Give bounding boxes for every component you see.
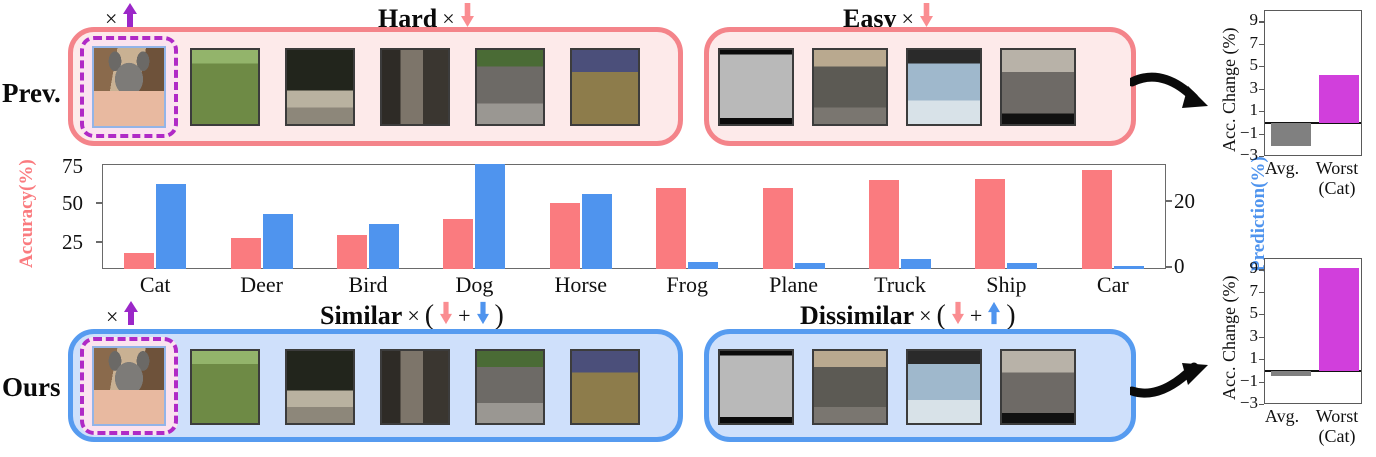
inset-ytick-mark [1259, 269, 1264, 270]
xtick-deer: Deer [207, 272, 317, 298]
row-label-prev: Prev. [2, 78, 61, 109]
close-paren: ) [1006, 300, 1015, 332]
bar-accuracy-truck [869, 180, 899, 269]
figure-root: Hard × Easy × × Prev. [0, 0, 1376, 457]
arrow-ours-to-inset-icon [1130, 355, 1220, 401]
bar-prediction-truck [901, 259, 931, 269]
thumb-dog[interactable] [380, 349, 450, 425]
ytick-left-25: 25 [62, 230, 83, 255]
multiply-symbol: × [919, 303, 931, 329]
xtick-plane: Plane [739, 272, 849, 298]
inset-ours-xlabel-worst-sub: (Cat) [1306, 426, 1368, 447]
inset-ytick-mark [1259, 66, 1264, 67]
bar-accuracy-horse [550, 203, 580, 269]
down-arrow-red-icon [439, 301, 453, 332]
inset-ours-ylabel: Acc. Change (%) [1219, 276, 1240, 400]
down-arrow-blue-icon [476, 301, 490, 332]
thumb-deer[interactable] [190, 48, 260, 126]
multiply-symbol: × [106, 304, 118, 330]
caption-similar-label: Similar [320, 301, 402, 331]
inset-ytick-mark [1259, 89, 1264, 90]
bar-prediction-frog [688, 262, 718, 269]
inset-prev-ylabel: Acc. Change (%) [1219, 28, 1240, 152]
bar-accuracy-bird [337, 235, 367, 269]
inset-ytick-mark [1259, 134, 1264, 135]
ytick-mark-right [1166, 200, 1172, 202]
bar-accuracy-cat [124, 253, 154, 269]
plus-symbol: + [458, 303, 470, 329]
thumb-cat[interactable] [92, 346, 166, 426]
thumb-truck[interactable] [812, 349, 888, 425]
bar-prediction-plane [795, 263, 825, 269]
thumb-frog[interactable] [570, 48, 640, 126]
xtick-bird: Bird [313, 272, 423, 298]
thumb-car[interactable] [1000, 48, 1076, 126]
bar-accuracy-ship [975, 179, 1005, 269]
caption-similar: Similar × ( + ) [320, 300, 504, 332]
inset-ytick-mark [1259, 292, 1264, 293]
close-paren: ) [495, 300, 504, 332]
thumb-bird[interactable] [285, 48, 355, 126]
bar-prediction-deer [263, 214, 293, 269]
xtick-cat: Cat [100, 272, 210, 298]
xtick-car: Car [1058, 272, 1168, 298]
inset-ours-xlabel-avg: Avg. [1258, 406, 1306, 427]
up-arrow-blue-icon [987, 301, 1001, 332]
bar-accuracy-deer [231, 238, 261, 269]
ytick-right-20: 20 [1174, 189, 1195, 214]
ytick-left-75: 75 [62, 154, 83, 179]
open-paren: ( [937, 300, 946, 332]
ytick-mark-right [1166, 266, 1172, 268]
arrow-prev-to-inset-icon [1130, 72, 1220, 118]
inset-ytick-mark [1259, 382, 1264, 383]
inset-ours-xlabel-worst: Worst [1306, 406, 1368, 427]
inset-ytick-mark [1259, 21, 1264, 22]
caption-dissimilar-label: Dissimilar [800, 301, 914, 331]
bar-prediction-cat [156, 184, 186, 269]
caption-dissimilar: Dissimilar × ( + ) [800, 300, 1016, 332]
inset-prev-plot-area [1264, 10, 1362, 156]
bar-accuracy-frog [656, 188, 686, 269]
thumb-cat[interactable] [92, 46, 166, 128]
inset-ytick-mark [1259, 44, 1264, 45]
xtick-ship: Ship [951, 272, 1061, 298]
thumb-frog[interactable] [570, 349, 640, 425]
bar-accuracy-car [1082, 170, 1112, 269]
thumb-plane[interactable] [718, 349, 794, 425]
inset-ytick-mark [1259, 111, 1264, 112]
thumb-horse[interactable] [475, 349, 545, 425]
thumb-horse[interactable] [475, 48, 545, 126]
bar-prediction-horse [582, 194, 612, 269]
main-chart-xtick-layer: CatDeerBirdDogHorseFrogPlaneTruckShipCar [102, 272, 1166, 302]
row-label-ours: Ours [2, 372, 61, 403]
thumb-ship[interactable] [906, 349, 982, 425]
ytick-right-0: 0 [1174, 254, 1185, 279]
bar-worst [1319, 75, 1359, 123]
bar-prediction-car [1114, 266, 1144, 269]
inset-prev-xlabel-worst: Worst [1306, 158, 1368, 179]
inset-prev-xlabel-worst-sub: (Cat) [1306, 178, 1368, 199]
thumb-car[interactable] [1000, 349, 1076, 425]
xtick-dog: Dog [419, 272, 529, 298]
inset-ytick-mark [1259, 337, 1264, 338]
bar-prediction-ship [1007, 263, 1037, 269]
main-chart-bars-layer [102, 164, 1166, 269]
thumb-dog[interactable] [380, 48, 450, 126]
xtick-horse: Horse [526, 272, 636, 298]
inset-ytick-mark [1259, 314, 1264, 315]
thumb-plane[interactable] [718, 48, 794, 126]
bar-prediction-dog [475, 164, 505, 269]
thumb-deer[interactable] [190, 349, 260, 425]
bar-avg [1271, 123, 1311, 145]
thumb-bird[interactable] [285, 349, 355, 425]
main-chart-ylabel-left: Accuracy(%) [16, 159, 38, 268]
bar-accuracy-plane [763, 188, 793, 269]
bar-accuracy-dog [443, 219, 473, 269]
inset-ytick-mark [1259, 359, 1264, 360]
plus-symbol: + [970, 303, 982, 329]
xtick-frog: Frog [632, 272, 742, 298]
bar-avg [1271, 371, 1311, 375]
inset-prev-xlabel-avg: Avg. [1258, 158, 1306, 179]
thumb-truck[interactable] [812, 48, 888, 126]
bar-worst [1319, 268, 1359, 371]
open-paren: ( [425, 300, 434, 332]
xtick-truck: Truck [845, 272, 955, 298]
multiply-symbol: × [407, 303, 419, 329]
bar-prediction-bird [369, 224, 399, 269]
thumb-ship[interactable] [906, 48, 982, 126]
ytick-left-50: 50 [62, 191, 83, 216]
inset-ours-plot-area [1264, 258, 1362, 404]
down-arrow-red-icon [951, 301, 965, 332]
